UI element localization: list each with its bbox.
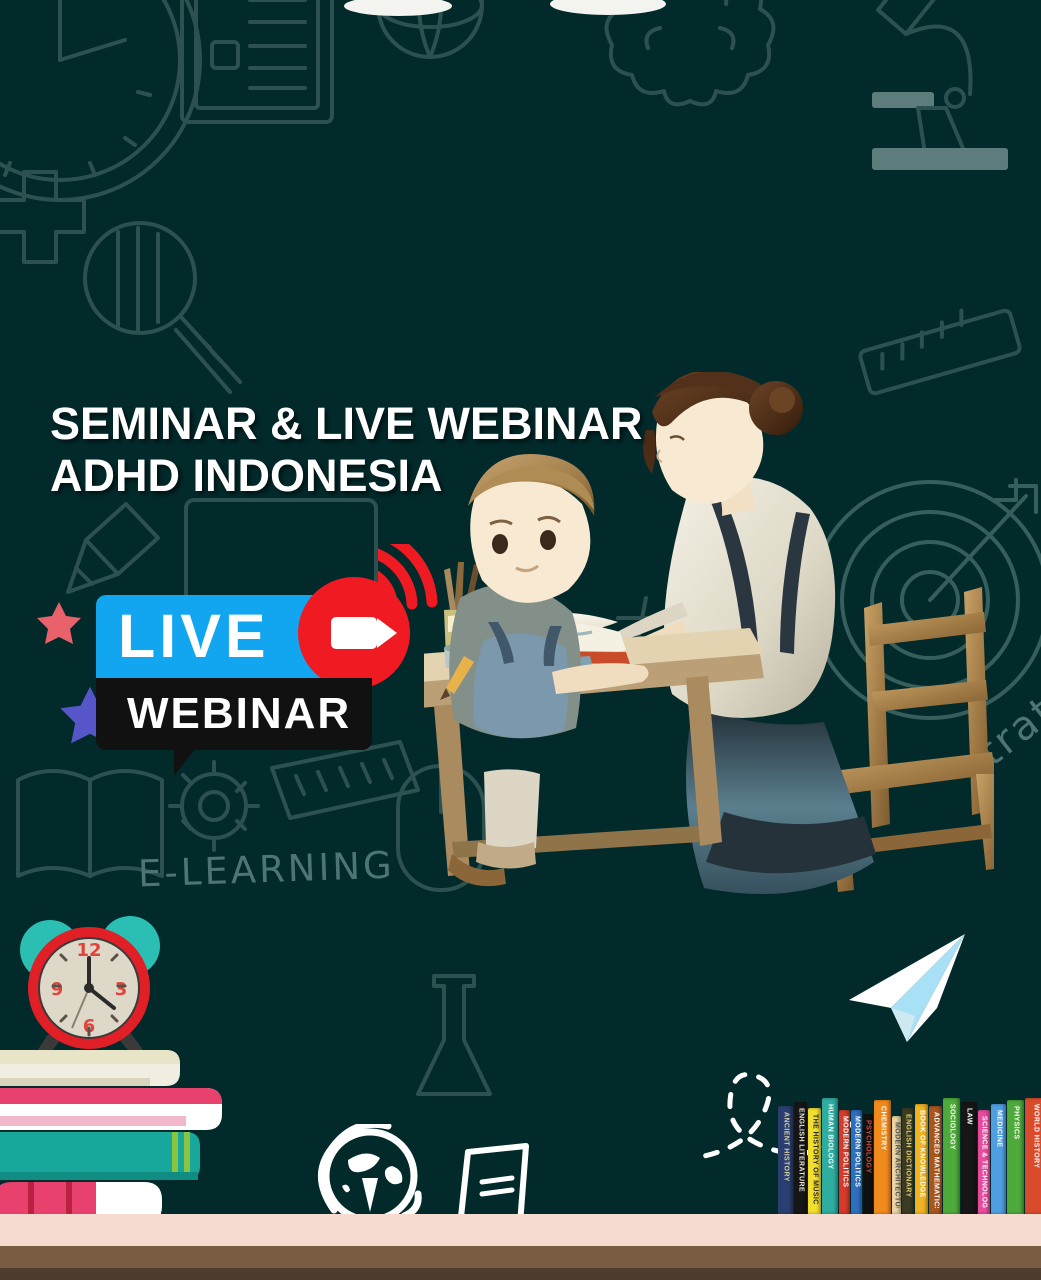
book-spine: Human Biology [822,1098,838,1214]
book-spine-title: Law [966,1108,973,1208]
book-spine-title: Sociology [948,1104,955,1208]
book-spine: Science & Technology [978,1110,990,1214]
magnifier-doodle [85,223,240,392]
book-spine-title: Medicine [995,1110,1002,1208]
book-spine-title: Physics [1012,1106,1019,1208]
page-title-line2: ADHD INDONESIA [50,450,643,502]
book-spine-title: World History [1033,1104,1040,1208]
book-spine: Ancient History [778,1106,793,1214]
book-spine: Chemistry [874,1100,891,1214]
camera-lens [377,618,397,648]
shelf-edge [0,1246,1041,1270]
book-spine: Book of Knowledge [915,1104,928,1214]
book-spine-title: Modern Architecture [893,1122,900,1208]
globe-doodle [378,0,482,57]
book-spine-title: The History of Music [811,1114,818,1208]
badge-speech-tail [174,748,218,776]
poster-canvas: E-LEARNING strategy [0,0,1041,1280]
list-item [0,1050,180,1086]
book-spine-title: Chemistry [879,1106,886,1208]
book-spine: English Literature [794,1102,807,1214]
page-title: SEMINAR & LIVE WEBINAR ADHD INDONESIA [50,398,643,502]
paper-plane-icon [845,930,970,1045]
child-eye-left [492,534,508,554]
camera-body [331,617,377,649]
book-spine-title: Advanced Mathematics [932,1112,939,1208]
book-spine-title: Modern Politics [841,1116,848,1208]
list-item [0,1132,200,1180]
chalk-smudge [344,0,666,16]
book-spine-title: Human Biology [827,1104,834,1208]
book-spine: English Dictionary [902,1108,914,1214]
book-spine: Advanced Mathematics [929,1106,942,1214]
book-spine-title: Modern Politics [853,1116,860,1208]
elearning-chalk-text: E-LEARNING [137,844,395,896]
shelf-face [0,1214,1041,1248]
badge-live-label: LIVE [96,606,270,667]
badge-webinar-bar: WEBINAR [96,678,372,750]
shelf-shadow [0,1268,1041,1280]
badge-webinar-label: WEBINAR [96,692,351,736]
page-title-line1: SEMINAR & LIVE WEBINAR [50,398,643,450]
plus-doodle [0,172,84,262]
book-spine: Modern Architecture [892,1116,901,1214]
alarm-clock-icon: 12 3 6 9 [8,916,168,1062]
book-spine-title: English Literature [797,1108,804,1208]
book-spine: Modern Politics [851,1110,862,1214]
book-spine: Sociology [943,1098,960,1214]
book-spine-title: Science & Technology [981,1116,988,1208]
book-spine: Modern Politics [839,1110,850,1214]
bookshelf-books: Ancient HistoryEnglish LiteratureThe His… [778,1098,1041,1214]
book-spine-title: Psychology [865,1120,872,1208]
book-spine: The History of Music [808,1108,821,1214]
book-spine: Medicine [991,1104,1006,1214]
video-camera-icon [298,577,410,689]
live-webinar-badge[interactable]: LIVE WEBINAR [96,556,426,772]
svg-text:3: 3 [115,979,128,1000]
list-item [0,1088,222,1130]
microscope-doodle [872,0,1008,170]
book-spine: World History [1025,1098,1041,1214]
book-spine-title: English Dictionary [905,1114,912,1208]
brain-doodle [607,0,774,104]
child-eye-right [540,530,556,550]
book-spine: Physics [1007,1100,1024,1214]
svg-text:9: 9 [51,979,64,1000]
red-star-decoration [36,600,82,646]
book-spine-title: Book of Knowledge [918,1110,925,1208]
book-spine-title: Ancient History [782,1112,789,1208]
child-figure [440,454,649,886]
clock-doodle [0,0,200,200]
book-spine: Psychology [863,1114,873,1214]
clipboard-doodle [182,0,332,122]
flask-doodle [418,976,490,1094]
book-spine: Law [961,1102,977,1214]
